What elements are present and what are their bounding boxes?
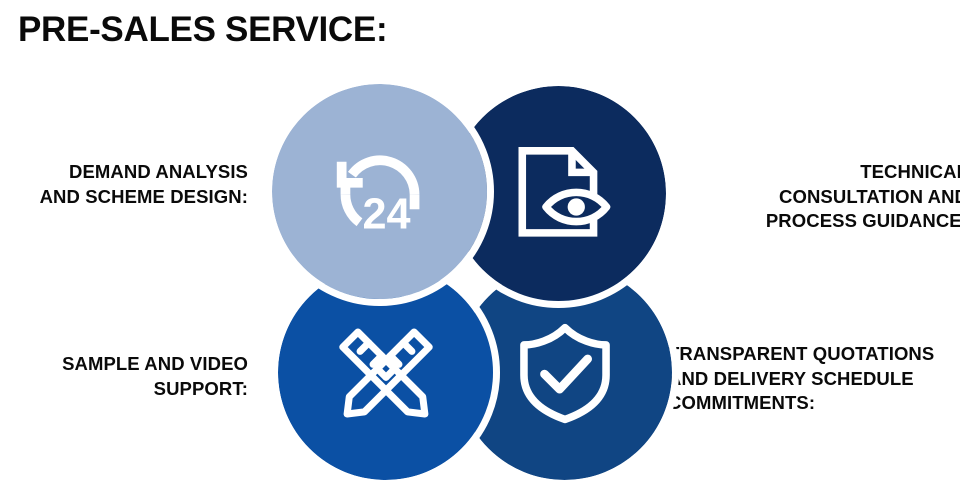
label-demand-analysis: DEMAND ANALYSIS AND SCHEME DESIGN: <box>0 160 248 209</box>
document-eye-icon <box>505 140 613 248</box>
circle-cluster: 24 <box>272 84 666 480</box>
pencil-ruler-icon <box>332 319 440 427</box>
page-title: PRE-SALES SERVICE: <box>18 10 387 50</box>
shield-check-icon <box>511 319 619 427</box>
circle-demand-analysis[interactable]: 24 <box>272 84 487 299</box>
svg-text:24: 24 <box>362 190 410 238</box>
clock-arrow-24-icon: 24 <box>326 138 434 246</box>
label-transparent-quotations: TRANSPARENT QUOTATIONS AND DELIVERY SCHE… <box>668 342 960 416</box>
label-sample-video-support: SAMPLE AND VIDEO SUPPORT: <box>0 352 248 401</box>
label-technical-consultation: TECHNICAL CONSULTATION AND PROCESS GUIDA… <box>728 160 960 234</box>
